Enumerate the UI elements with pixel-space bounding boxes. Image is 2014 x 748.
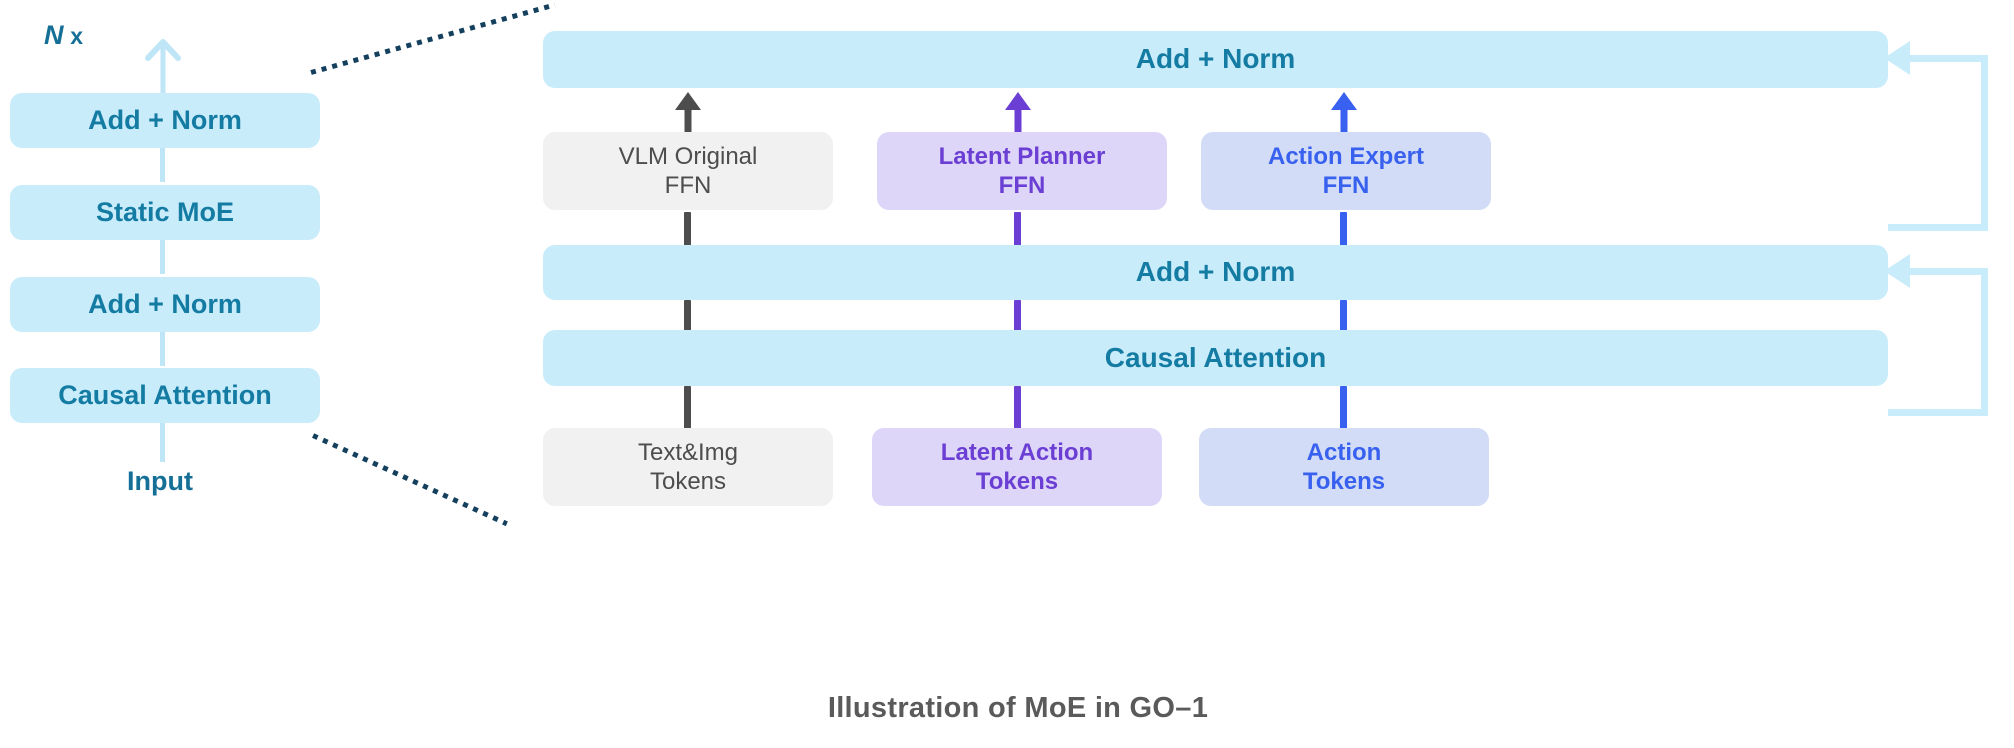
- left-block-static-moe[interactable]: Static MoE: [10, 185, 320, 240]
- left-connector-2: [160, 238, 165, 274]
- arrow-action-ffn-to-add-norm: [1330, 92, 1358, 132]
- connector-attention-to-mid-norm-blue: [1340, 300, 1347, 332]
- expert-action-expert-ffn[interactable]: Action Expert FFN: [1201, 132, 1491, 210]
- dotted-guide-bottom: [312, 433, 508, 526]
- expert-latent-planner-ffn[interactable]: Latent Planner FFN: [877, 132, 1167, 210]
- left-connector-4: [160, 420, 165, 462]
- left-block-add-norm-top[interactable]: Add + Norm: [10, 93, 320, 148]
- residual-top-horizontal-upper: [1907, 55, 1988, 62]
- left-block-add-norm-bottom[interactable]: Add + Norm: [10, 277, 320, 332]
- connector-latent-action-tokens-to-attention: [1014, 386, 1021, 429]
- residual-mid-vertical: [1981, 268, 1988, 416]
- token-text-img[interactable]: Text&Img Tokens: [543, 428, 833, 506]
- right-add-norm-top[interactable]: Add + Norm: [543, 31, 1888, 88]
- left-connector-1: [160, 146, 165, 182]
- residual-top-arrowhead: [1884, 41, 1910, 75]
- left-block-causal-attention[interactable]: Causal Attention: [10, 368, 320, 423]
- residual-mid-arrowhead: [1884, 254, 1910, 288]
- left-connector-3: [160, 330, 165, 366]
- left-flow-up-arrow: [138, 36, 188, 98]
- dotted-guide-top: [310, 2, 555, 74]
- residual-mid-horizontal-lower: [1888, 409, 1988, 416]
- arrow-latent-ffn-to-add-norm: [1004, 92, 1032, 132]
- repeat-count-n: N: [44, 20, 64, 50]
- connector-attention-to-mid-norm-purple: [1014, 300, 1021, 332]
- residual-top-horizontal-lower: [1888, 224, 1988, 231]
- right-causal-attention[interactable]: Causal Attention: [543, 330, 1888, 386]
- repeat-count-x: x: [64, 23, 84, 49]
- expert-vlm-original-ffn[interactable]: VLM Original FFN: [543, 132, 833, 210]
- left-input-label: Input: [0, 466, 320, 497]
- diagram-canvas: N x Add + Norm Static MoE Add + Norm Cau…: [0, 0, 2014, 748]
- residual-mid-horizontal-upper: [1907, 268, 1988, 275]
- repeat-count-label: N x: [44, 20, 83, 51]
- token-action[interactable]: Action Tokens: [1199, 428, 1489, 506]
- arrow-vlm-ffn-to-add-norm: [674, 92, 702, 132]
- figure-caption: Illustration of MoE in GO–1: [543, 692, 1493, 725]
- right-add-norm-mid[interactable]: Add + Norm: [543, 245, 1888, 300]
- connector-attention-to-mid-norm-gray: [684, 300, 691, 332]
- connector-text-img-tokens-to-attention: [684, 386, 691, 429]
- connector-action-tokens-to-attention: [1340, 386, 1347, 429]
- residual-top-vertical: [1981, 55, 1988, 231]
- token-latent-action[interactable]: Latent Action Tokens: [872, 428, 1162, 506]
